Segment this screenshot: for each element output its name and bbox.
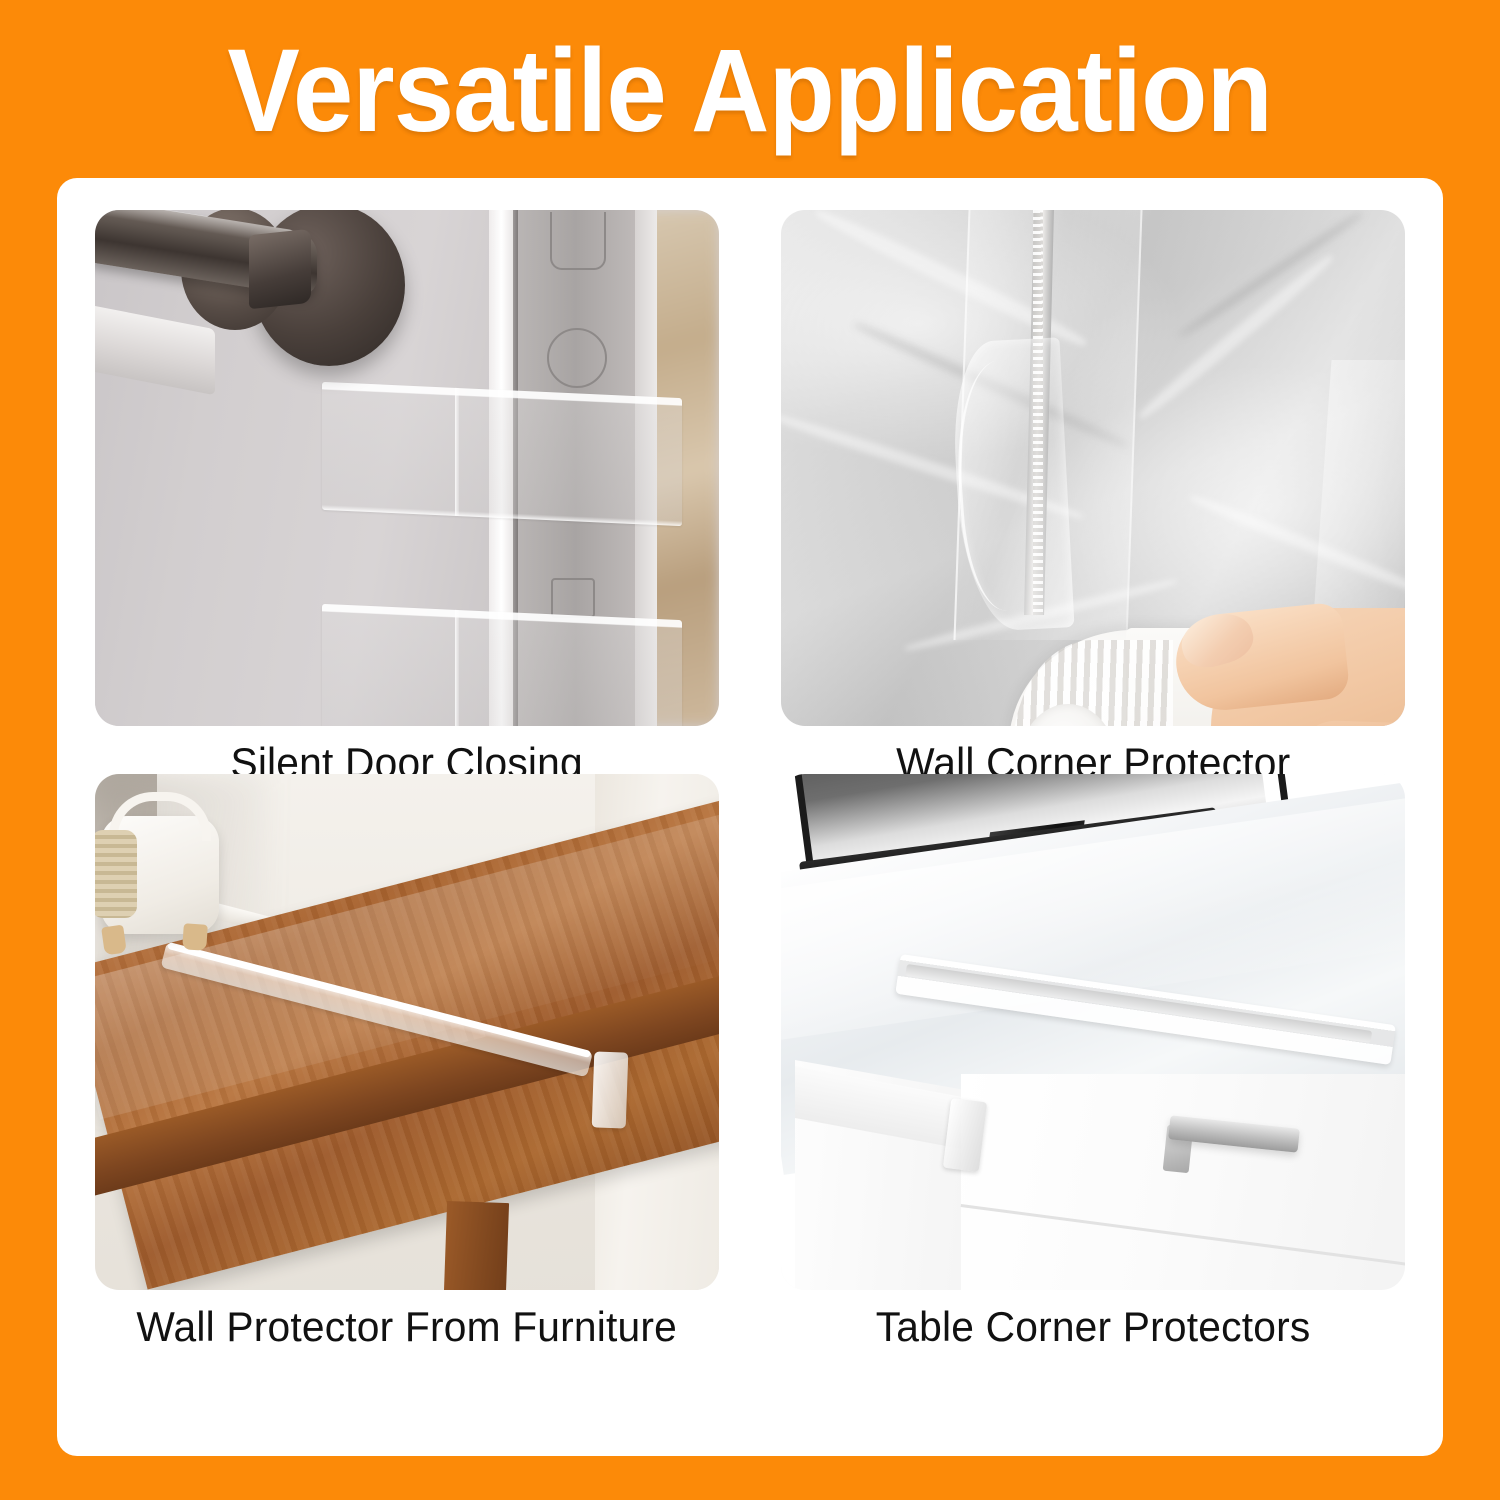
panel-wall-protector-from-furniture: Wall Protector From Furniture bbox=[95, 774, 719, 1290]
caption-text: Table Corner Protectors bbox=[876, 1303, 1311, 1351]
caption-wall-protector-from-furniture: Wall Protector From Furniture bbox=[95, 1290, 719, 1364]
photo-wall-corner-protector bbox=[781, 210, 1405, 726]
strip-fold bbox=[455, 388, 459, 516]
table-leg bbox=[443, 1201, 509, 1290]
photo-wall-protector-from-furniture bbox=[95, 774, 719, 1290]
cabinet-drawer-front bbox=[961, 1074, 1405, 1290]
page-title: Versatile Application bbox=[228, 32, 1273, 150]
speaker-foot bbox=[101, 925, 127, 956]
photo-table-corner-protectors bbox=[781, 774, 1405, 1290]
panels-grid: Silent Door Closing bbox=[95, 210, 1405, 1425]
title-bar: Versatile Application bbox=[0, 0, 1500, 178]
product-infographic: Versatile Application bbox=[0, 0, 1500, 1500]
silicone-strip-lower bbox=[322, 604, 682, 726]
clear-protector-end-cap bbox=[592, 1051, 629, 1128]
door-lever-tip bbox=[249, 229, 311, 310]
marble-vein bbox=[1136, 251, 1337, 422]
caption-table-corner-protectors: Table Corner Protectors bbox=[781, 1290, 1405, 1364]
speaker-foot bbox=[182, 923, 208, 951]
marble-vein-dark bbox=[1177, 210, 1364, 340]
panel-wall-corner-protector: Wall Corner Protector bbox=[781, 210, 1405, 726]
panel-table-corner-protectors: Table Corner Protectors bbox=[781, 774, 1405, 1290]
latch-plate-icon bbox=[550, 212, 606, 270]
caption-text: Wall Protector From Furniture bbox=[137, 1303, 678, 1351]
latch-circle-icon bbox=[547, 328, 607, 388]
panels-card: Silent Door Closing bbox=[57, 178, 1443, 1456]
speaker-grille bbox=[95, 830, 137, 918]
latch-square-icon bbox=[551, 578, 595, 618]
panel-silent-door-closing: Silent Door Closing bbox=[95, 210, 719, 726]
silicone-strip-upper bbox=[322, 382, 682, 526]
strip-fold bbox=[455, 610, 459, 726]
photo-silent-door-closing bbox=[95, 210, 719, 726]
